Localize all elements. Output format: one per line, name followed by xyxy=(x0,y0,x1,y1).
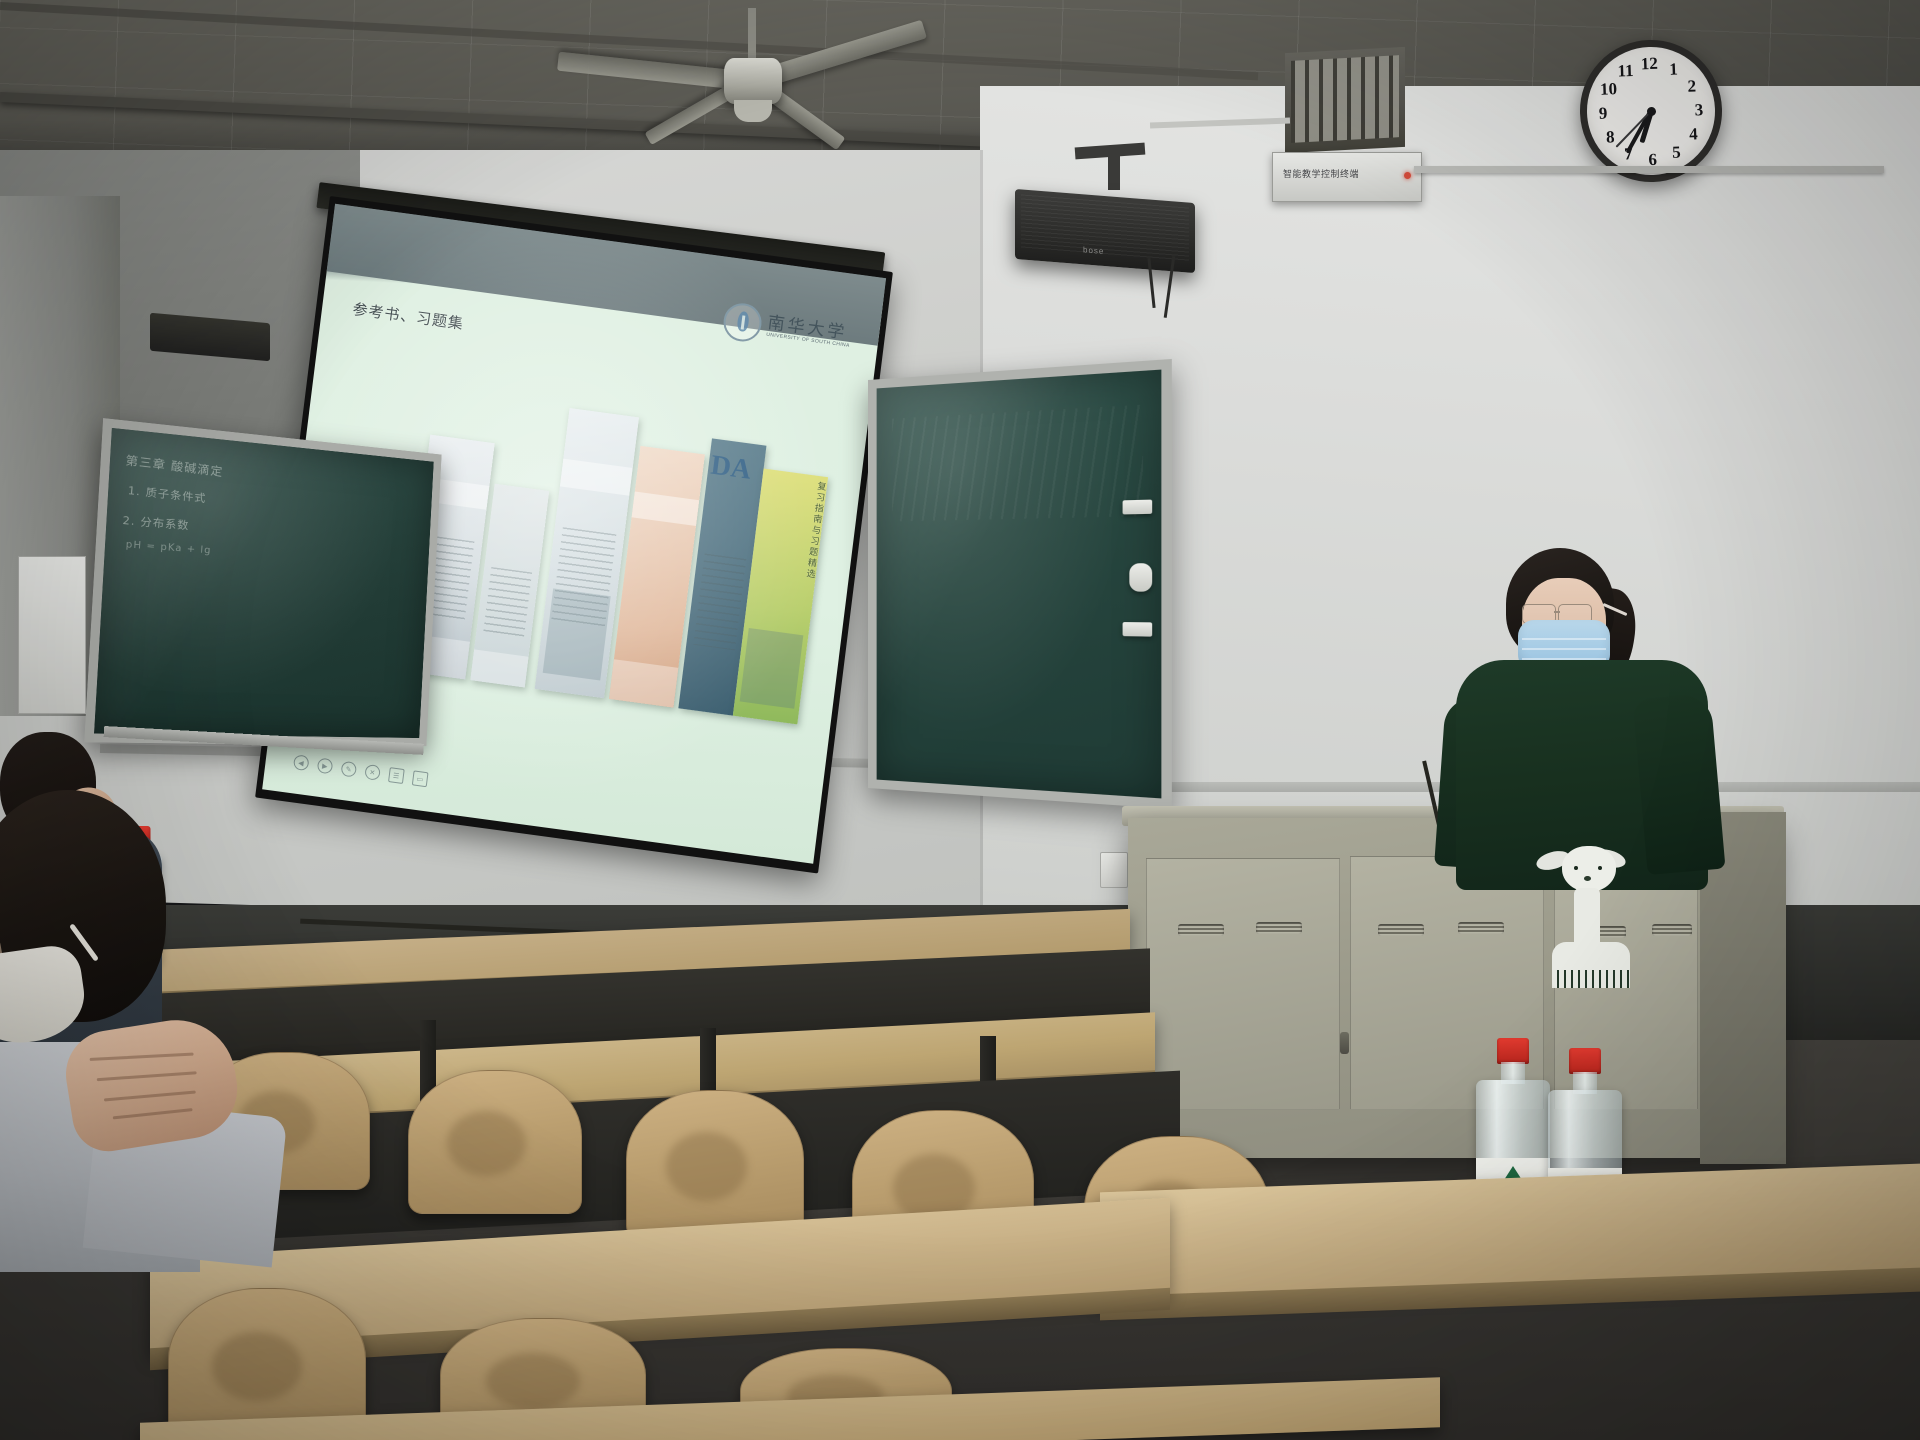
clock-center-pin xyxy=(1646,106,1655,115)
podium-vent-slot xyxy=(1378,924,1424,936)
ceiling-fan-cap xyxy=(734,100,772,122)
display-icon[interactable]: ▭ xyxy=(412,771,429,788)
ceiling-fan-motor xyxy=(724,58,782,104)
pen-icon[interactable]: ✎ xyxy=(340,761,357,778)
wall-outlet[interactable] xyxy=(1100,852,1128,888)
pointer-icon[interactable]: ✕ xyxy=(364,764,381,781)
surgical-mask xyxy=(0,942,90,1049)
chalkboard-eraser[interactable] xyxy=(1123,500,1153,515)
vent-slats-icon xyxy=(1291,55,1399,143)
clock-numeral: 9 xyxy=(1593,103,1614,124)
lecturer-arm-right xyxy=(1632,693,1725,875)
podium-vent-slot xyxy=(1256,922,1302,934)
side-chalkboard: 第三章 酸碱滴定 1. 质子条件式 2. 分布系数 pH = pKa + lg xyxy=(84,418,441,746)
podium-vent-slot xyxy=(1458,922,1504,934)
chalk-writing-line: pH = pKa + lg xyxy=(116,540,319,712)
ceiling-speaker: bose xyxy=(1015,189,1195,273)
book-big-letters: DA xyxy=(709,450,753,487)
slide-title: 参考书、习题集 xyxy=(351,299,465,335)
power-led-icon xyxy=(1404,172,1411,179)
speaker-brand-label: bose xyxy=(1083,245,1104,256)
clock-numeral: 5 xyxy=(1666,142,1687,163)
eyeglasses-bridge xyxy=(1554,611,1560,613)
sheep-motif-icon xyxy=(1538,838,1646,988)
projector-mount-post xyxy=(1108,150,1120,190)
menu-icon[interactable]: ☰ xyxy=(388,768,405,785)
control-terminal-label: 智能教学控制终端 xyxy=(1283,167,1359,180)
torch-crest-icon xyxy=(721,301,763,344)
slide-playback-toolbar[interactable]: ◀ ▶ ✎ ✕ ☰ ▭ xyxy=(293,755,429,788)
classroom-scene: 12 1 2 3 4 5 6 7 8 9 10 11 智能教学控制终端 bose xyxy=(0,0,1920,1440)
speaker-grill-icon xyxy=(1021,194,1189,262)
chair-back[interactable] xyxy=(408,1070,582,1214)
chair-back[interactable] xyxy=(626,1090,804,1240)
chalkboard-eraser[interactable] xyxy=(1123,622,1153,637)
podium-vent-slot xyxy=(1652,924,1692,936)
next-icon[interactable]: ▶ xyxy=(316,758,333,775)
chalkboard-smudge xyxy=(892,405,1142,521)
teaching-control-terminal[interactable]: 智能教学控制终端 xyxy=(1272,152,1422,202)
ceiling-fan-rod xyxy=(748,8,756,62)
clock-numeral: 3 xyxy=(1689,100,1710,121)
clock-numeral: 12 xyxy=(1639,54,1660,75)
clock-numeral: 4 xyxy=(1683,124,1704,145)
podium-vent-slot xyxy=(1178,924,1224,936)
podium-door-handle[interactable] xyxy=(1340,1032,1349,1054)
clock-numeral: 10 xyxy=(1598,79,1619,100)
student-front-row xyxy=(0,790,300,1270)
previous-icon[interactable]: ◀ xyxy=(293,755,310,772)
wall-conduit-right xyxy=(1414,166,1884,173)
lecturer xyxy=(1430,548,1730,878)
chalk-holder[interactable] xyxy=(1129,563,1152,592)
clock-numeral: 11 xyxy=(1615,61,1636,82)
clock-numeral: 2 xyxy=(1681,76,1702,97)
book-vertical-title: 复习指南与习题精选 xyxy=(802,481,827,581)
air-conditioner-vent xyxy=(1285,47,1405,153)
main-chalkboard xyxy=(868,359,1172,809)
wall-cabinet[interactable] xyxy=(18,556,86,714)
